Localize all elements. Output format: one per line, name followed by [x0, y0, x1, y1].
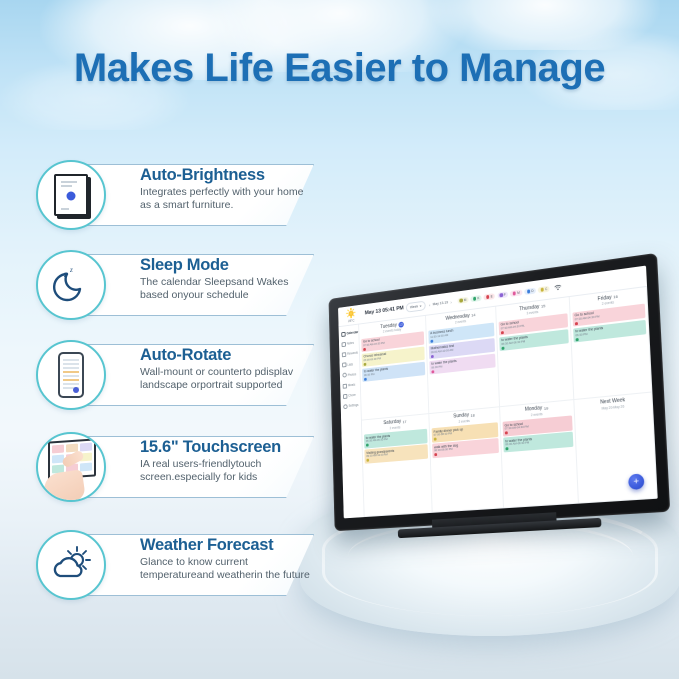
member-initial: E [491, 294, 493, 298]
temperature-label: 28°C [348, 318, 355, 323]
day-number: 14 [471, 312, 475, 317]
day-number: 19 [544, 405, 549, 410]
attendee-avatar [501, 331, 504, 334]
member-color-dot [473, 297, 476, 301]
day-number: 17 [402, 419, 406, 424]
day-column-monday[interactable]: Monday192 eventsGo to school07:30 AM-04:… [500, 400, 579, 509]
wifi-icon [555, 284, 562, 291]
view-selector-label: Week [410, 304, 418, 309]
member-chip-2[interactable]: E [484, 293, 495, 301]
feature-description: Glance to know current temperatureand we… [140, 556, 312, 581]
member-chip-6[interactable]: C [538, 285, 550, 293]
attendee-avatar [502, 347, 505, 350]
feature-description: Integrates perfectly with your home as a… [140, 186, 312, 211]
sidebar-item-rewards[interactable]: Rewards [339, 348, 359, 360]
attendee-avatar [430, 340, 432, 343]
member-initial: F [504, 293, 506, 297]
member-color-dot [527, 290, 530, 294]
sidebar-item-label: Chore [348, 393, 356, 398]
day-number: 15 [541, 303, 546, 308]
prev-week-arrow-icon[interactable]: ‹ [429, 302, 431, 307]
attendee-avatar [505, 448, 508, 451]
member-initial: D [531, 289, 533, 293]
day-number: 18 [470, 412, 474, 417]
feature-callout-sleep-mode: z z Sleep Mode The calendar Sleepsand Wa… [36, 250, 314, 322]
member-chip-0[interactable]: M [457, 296, 469, 304]
calendar-grid[interactable]: Tuesday132 events todayGo to school07:30… [359, 287, 658, 517]
member-color-dot [460, 299, 463, 303]
sidebar-item-label: Calendar [346, 330, 358, 335]
date-navigator[interactable]: ‹ May 13-19 › [429, 299, 452, 307]
today-badge: 13 [398, 321, 403, 327]
attendee-avatar [431, 355, 433, 358]
attendee-avatar [434, 454, 436, 457]
feature-description: The calendar Sleepsand Wakes based onyou… [140, 276, 312, 301]
svg-text:z: z [69, 266, 73, 274]
sidebar-item-label: Lists [347, 362, 353, 366]
member-chip-5[interactable]: D [524, 287, 536, 295]
day-column-next-week[interactable]: Next WeekMay 20-May 26 [574, 392, 657, 504]
member-initial: K [477, 296, 479, 300]
feature-callout-touchscreen: 15.6" Touchscreen IA real users-friendly… [36, 432, 314, 504]
attendee-avatar [364, 363, 366, 366]
app-body: CalendarNotesRewardsListsPhotosMealsChor… [339, 287, 658, 518]
feature-title: Auto-Brightness [140, 166, 265, 185]
meals-icon [342, 383, 346, 388]
day-column-friday[interactable]: Friday162 eventsGo to school07:30 AM-04:… [570, 287, 653, 400]
next-week-arrow-icon[interactable]: › [450, 299, 452, 304]
feature-description: Wall-mount or counterto pdisplav landsca… [140, 366, 312, 391]
day-column-saturday[interactable]: Saturday172 eventsto water the plants06:… [362, 414, 433, 518]
attendee-avatar [434, 438, 436, 441]
settings-icon [343, 404, 347, 409]
day-column-thursday[interactable]: Thursday153 eventsGo to school07:30 AM-0… [496, 297, 574, 407]
sun-icon [346, 308, 356, 319]
attendee-avatar [366, 444, 368, 447]
moon-sleep-icon: z z [36, 250, 106, 320]
member-color-dot [500, 293, 503, 297]
feature-callout-weather-forecast: Weather Forecast Glance to know current … [36, 530, 314, 602]
attendee-avatar [576, 338, 579, 341]
member-initial: M [464, 298, 467, 302]
feature-callout-auto-rotate: Auto-Rotate Wall-mount or counterto pdis… [36, 340, 314, 412]
tablet-display-icon [36, 160, 106, 230]
day-column-sunday[interactable]: Sunday182 eventsFamily dinner pick up07:… [429, 407, 504, 513]
sidebar-item-label: Rewards [347, 351, 358, 356]
member-color-dot [541, 288, 544, 292]
day-header: Next WeekMay 20-May 26 [576, 395, 649, 413]
weather-widget[interactable]: 28°C [342, 307, 361, 324]
datetime-label: May 13 05:41 PM [365, 305, 404, 316]
attendee-avatar [431, 370, 433, 373]
day-column-tuesday[interactable]: Tuesday132 events todayGo to school07:30… [359, 316, 429, 420]
photos-icon [342, 373, 346, 378]
feature-title: Auto-Rotate [140, 346, 231, 365]
feature-description: IA real users-friendlytouch screen.espec… [140, 458, 312, 483]
cloud-decoration [430, 0, 660, 50]
sun-cloud-icon [36, 530, 106, 600]
feature-title: Weather Forecast [140, 536, 273, 555]
hand-touch-icon [36, 432, 106, 502]
feature-title: 15.6" Touchscreen [140, 438, 281, 457]
date-range-label: May 13-19 [433, 300, 449, 306]
device-screen[interactable]: 28°C May 13 05:41 PM Week ∨ ‹ May 13-19 … [338, 266, 658, 519]
calendar-icon [341, 331, 345, 336]
sidebar-item-settings[interactable]: Settings [341, 400, 361, 412]
member-chip-1[interactable]: K [471, 295, 482, 303]
day-column-wednesday[interactable]: Wednesday142 eventsA business lunch11:30… [426, 307, 500, 414]
chevron-down-icon: ∨ [419, 304, 421, 308]
notes-icon [341, 342, 345, 347]
member-color-dot [513, 292, 516, 296]
sidebar-item-label: Notes [347, 341, 354, 346]
attendee-avatar [575, 322, 578, 325]
day-number: 16 [613, 294, 618, 300]
attendee-avatar [364, 378, 366, 381]
member-chip-4[interactable]: M [510, 289, 522, 297]
sidebar-item-label: Settings [348, 403, 358, 408]
member-initial: C [545, 287, 547, 291]
member-chip-3[interactable]: F [497, 291, 508, 299]
sidebar-item-label: Photos [348, 372, 357, 377]
feature-callout-auto-brightness: Auto-Brightness Integrates perfectly wit… [36, 160, 314, 232]
product-device: 28°C May 13 05:41 PM Week ∨ ‹ May 13-19 … [329, 253, 671, 531]
rewards-icon [341, 352, 345, 357]
page-title: Makes Life Easier to Manage [0, 46, 679, 91]
feature-title: Sleep Mode [140, 256, 229, 275]
sidebar-item-label: Meals [348, 383, 355, 388]
attendee-avatar [363, 348, 365, 351]
phone-rotate-icon [36, 340, 106, 410]
lists-icon [342, 363, 346, 368]
attendee-avatar [505, 432, 508, 435]
chore-icon [343, 394, 347, 399]
member-initial: M [517, 291, 520, 295]
svg-text:z: z [63, 269, 68, 279]
view-selector[interactable]: Week ∨ [406, 301, 425, 312]
member-color-dot [486, 295, 489, 299]
attendee-avatar [366, 459, 368, 462]
